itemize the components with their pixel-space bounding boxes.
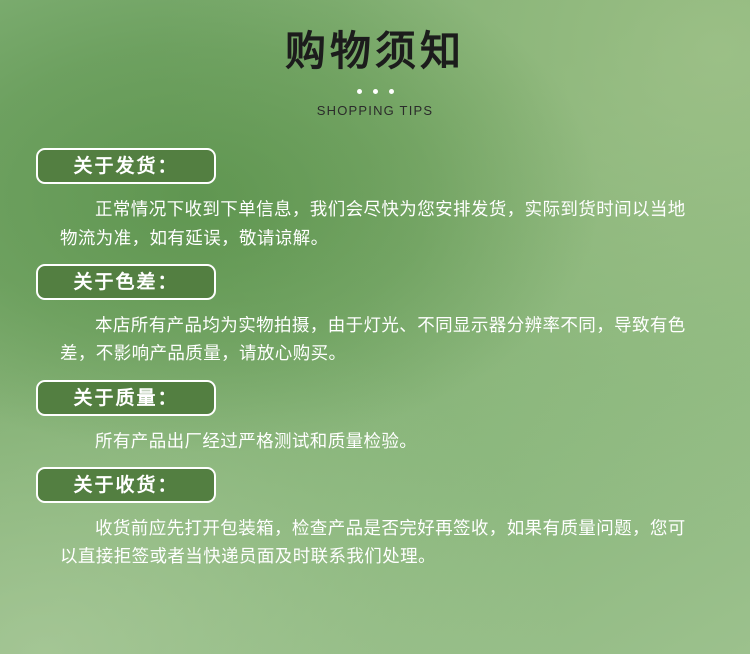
section-body-quality: 所有产品出厂经过严格测试和质量检验。 <box>60 428 714 456</box>
divider-dot-icon <box>357 89 362 94</box>
section-heading-color-difference: 关于色差： <box>36 264 216 300</box>
section-quality: 关于质量： 所有产品出厂经过严格测试和质量检验。 <box>36 380 714 456</box>
page-header: 购物须知 SHOPPING TIPS <box>0 0 750 118</box>
page-title: 购物须知 <box>0 26 750 77</box>
sections-list: 关于发货： 正常情况下收到下单信息，我们会尽快为您安排发货，实际到货时间以当地物… <box>0 148 750 571</box>
section-body-receiving: 收货前应先打开包装箱，检查产品是否完好再签收，如果有质量问题，您可以直接拒签或者… <box>60 515 714 572</box>
section-body-shipping: 正常情况下收到下单信息，我们会尽快为您安排发货，实际到货时间以当地物流为准，如有… <box>60 196 714 253</box>
page-subtitle: SHOPPING TIPS <box>0 103 750 118</box>
shopping-tips-page: 购物须知 SHOPPING TIPS 关于发货： 正常情况下收到下单信息，我们会… <box>0 0 750 654</box>
dot-divider <box>0 87 750 95</box>
divider-dot-icon <box>389 89 394 94</box>
section-heading-quality: 关于质量： <box>36 380 216 416</box>
section-heading-shipping: 关于发货： <box>36 148 216 184</box>
section-color-difference: 关于色差： 本店所有产品均为实物拍摄，由于灯光、不同显示器分辨率不同，导致有色差… <box>36 264 714 369</box>
divider-dot-icon <box>373 89 378 94</box>
section-shipping: 关于发货： 正常情况下收到下单信息，我们会尽快为您安排发货，实际到货时间以当地物… <box>36 148 714 253</box>
section-receiving: 关于收货： 收货前应先打开包装箱，检查产品是否完好再签收，如果有质量问题，您可以… <box>36 467 714 572</box>
section-heading-receiving: 关于收货： <box>36 467 216 503</box>
section-body-color-difference: 本店所有产品均为实物拍摄，由于灯光、不同显示器分辨率不同，导致有色差，不影响产品… <box>60 312 714 369</box>
